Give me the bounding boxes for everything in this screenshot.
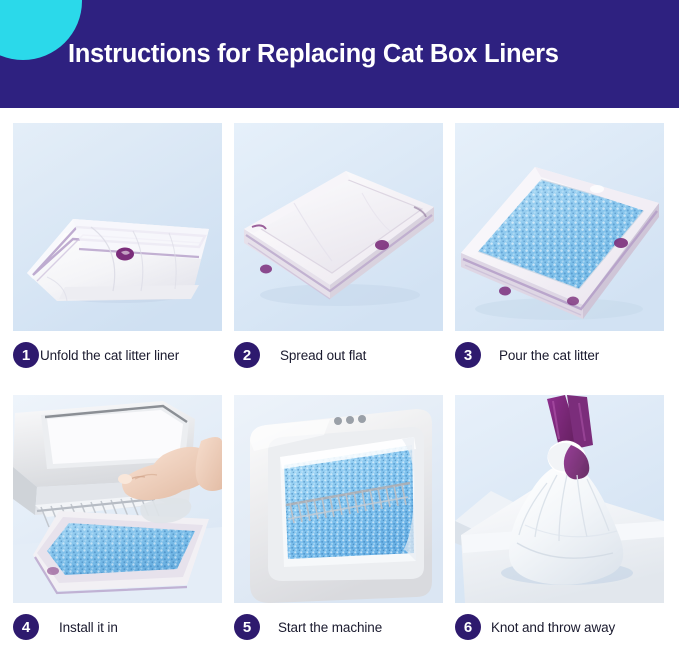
step-caption-4: 4 Install it in <box>13 610 222 644</box>
step-number-badge-4: 4 <box>13 614 39 640</box>
instruction-steps-grid: 1 Unfold the cat litter liner <box>0 108 679 653</box>
step-number-badge-3: 3 <box>455 342 481 368</box>
step-caption-6: 6 Knot and throw away <box>455 610 664 644</box>
step-caption-2: 2 Spread out flat <box>234 338 443 372</box>
step-card-1: 1 Unfold the cat litter liner <box>13 108 222 380</box>
poured-litter-photo <box>455 123 664 331</box>
folded-liner-photo <box>13 123 222 331</box>
page-title: Instructions for Replacing Cat Box Liner… <box>68 40 559 69</box>
machine-running-photo <box>234 395 443 603</box>
flat-liner-photo <box>234 123 443 331</box>
page-header: Instructions for Replacing Cat Box Liner… <box>0 0 679 108</box>
step-caption-5: 5 Start the machine <box>234 610 443 644</box>
step-caption-1: 1 Unfold the cat litter liner <box>13 338 222 372</box>
knotted-bag-photo <box>455 395 664 603</box>
step-label-2: Spread out flat <box>280 348 366 363</box>
steps-row-bottom: 4 Install it in <box>0 380 679 652</box>
step-label-6: Knot and throw away <box>491 620 615 635</box>
step-label-1: Unfold the cat litter liner <box>40 348 179 363</box>
step-caption-3: 3 Pour the cat litter <box>455 338 664 372</box>
step-number-badge-6: 6 <box>455 614 481 640</box>
step-card-5: 5 Start the machine <box>234 380 443 652</box>
step-card-3: 3 Pour the cat litter <box>455 108 664 380</box>
step-number-badge-1: 1 <box>13 342 39 368</box>
step-label-4: Install it in <box>59 620 118 635</box>
step-card-2: 2 Spread out flat <box>234 108 443 380</box>
install-tray-photo <box>13 395 222 603</box>
step-number-badge-2: 2 <box>234 342 260 368</box>
step-label-5: Start the machine <box>278 620 382 635</box>
step-label-3: Pour the cat litter <box>499 348 599 363</box>
steps-row-top: 1 Unfold the cat litter liner <box>0 108 679 380</box>
step-card-4: 4 Install it in <box>13 380 222 652</box>
step-number-badge-5: 5 <box>234 614 260 640</box>
step-card-6: 6 Knot and throw away <box>455 380 664 652</box>
